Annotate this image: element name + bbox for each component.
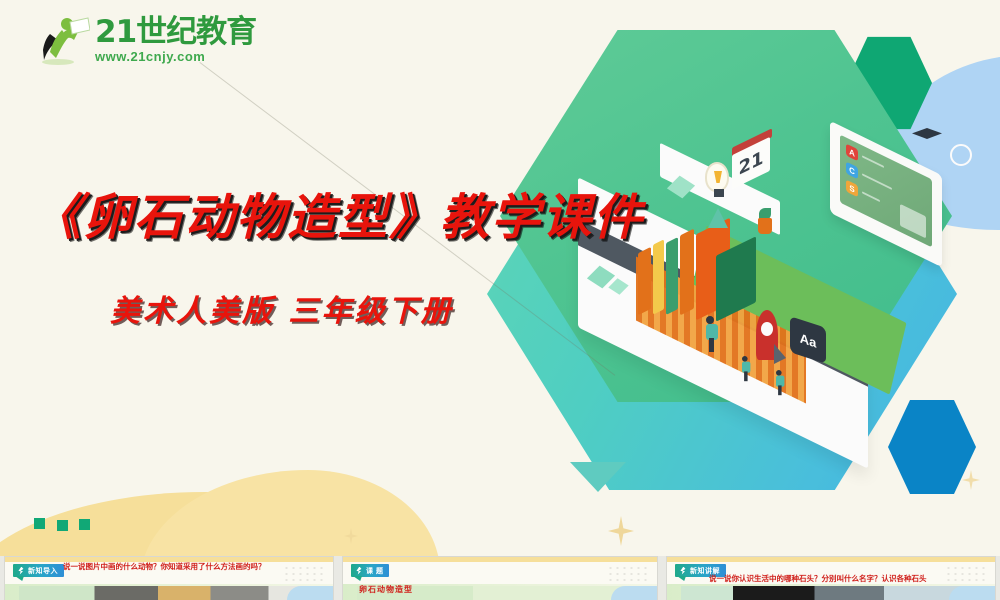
- app-icon-a: A: [846, 143, 858, 161]
- green-square-decor: [57, 520, 68, 531]
- screen-line: [862, 191, 880, 202]
- badge-label: 新知导入: [28, 566, 58, 576]
- slide-thumbnail-2[interactable]: 课 题 卵石动物造型: [342, 556, 658, 600]
- page-title: 《卵石动物造型》教学课件: [32, 178, 632, 249]
- clock-icon: [950, 144, 972, 166]
- thumb-badge-1: 新知导入: [13, 564, 64, 577]
- plant-pot: [758, 218, 772, 234]
- green-square-decor: [79, 519, 90, 530]
- runner-icon: [679, 567, 687, 575]
- tablet-screen: A C S: [840, 135, 932, 248]
- slide-thumbnail-3[interactable]: 新知讲解 说一说你认识生活中的哪种石头？分别叫什么名字？认识各种石头: [666, 556, 996, 600]
- badge-label: 课 题: [366, 566, 383, 576]
- brand-logo[interactable]: 21世纪教育 www.21cnjy.com: [34, 14, 256, 66]
- blue-corner-decor: [287, 586, 333, 600]
- bulb-filament: [714, 171, 722, 183]
- screen-card: [900, 204, 926, 239]
- isometric-classroom-illustration: 21 A C S: [560, 120, 980, 420]
- screen-line: [862, 173, 892, 190]
- rocket-window: [761, 322, 773, 336]
- person-legs: [744, 371, 748, 381]
- runner-icon: [17, 567, 25, 575]
- calendar-icon: 21: [732, 138, 772, 180]
- screen-line: [862, 155, 884, 168]
- thumb-badge-2: 课 题: [351, 564, 389, 577]
- slide-thumbnail-strip[interactable]: 新知导入 说一说图片中画的什么动物？你知道采用了什么方法画的吗？ 课 题 卵石动…: [0, 556, 1000, 600]
- thumb-heading-text: 卵石动物造型: [359, 584, 649, 595]
- dot-grid-decor: [607, 565, 647, 581]
- slide-thumbnail-1[interactable]: 新知导入 说一说图片中画的什么动物？你知道采用了什么方法画的吗？: [4, 556, 334, 600]
- logo-url-text: www.21cnjy.com: [95, 50, 256, 63]
- blue-corner-decor: [949, 586, 995, 600]
- runner-icon: [355, 567, 363, 575]
- calendar-day-number: 21: [738, 146, 763, 179]
- tablet-device: A C S: [830, 121, 942, 268]
- person-legs: [709, 338, 714, 352]
- yellow-wave-decor: [140, 470, 440, 556]
- page-subtitle: 美术人美版 三年级下册: [110, 286, 710, 330]
- app-icon-c: C: [846, 161, 858, 179]
- thumb-photo-row: [681, 586, 971, 600]
- thumb-photo-row: [19, 586, 309, 600]
- slide-canvas: 21 A C S: [0, 0, 1000, 556]
- sparkle-icon: [962, 470, 980, 490]
- thumb-question-text: 说一说图片中画的什么动物？你知道采用了什么方法画的吗？: [63, 562, 318, 573]
- thumb-question-text: 说一说你认识生活中的哪种石头？分别叫什么名字？认识各种石头: [709, 574, 984, 585]
- person-legs: [778, 385, 782, 395]
- lightbulb-icon: [705, 162, 729, 192]
- thumb-top-accent: [343, 557, 657, 562]
- thumb-top-accent: [667, 557, 995, 562]
- green-square-decor: [34, 518, 45, 529]
- logo-text-block: 21世纪教育 www.21cnjy.com: [95, 17, 256, 63]
- bulb-base: [714, 189, 724, 197]
- logo-main-text: 21世纪教育: [95, 17, 256, 48]
- sparkle-icon: [608, 516, 634, 546]
- graduation-cap-icon: [912, 128, 942, 140]
- app-icon-s: S: [846, 179, 858, 197]
- running-person-with-book-logo: [34, 14, 90, 66]
